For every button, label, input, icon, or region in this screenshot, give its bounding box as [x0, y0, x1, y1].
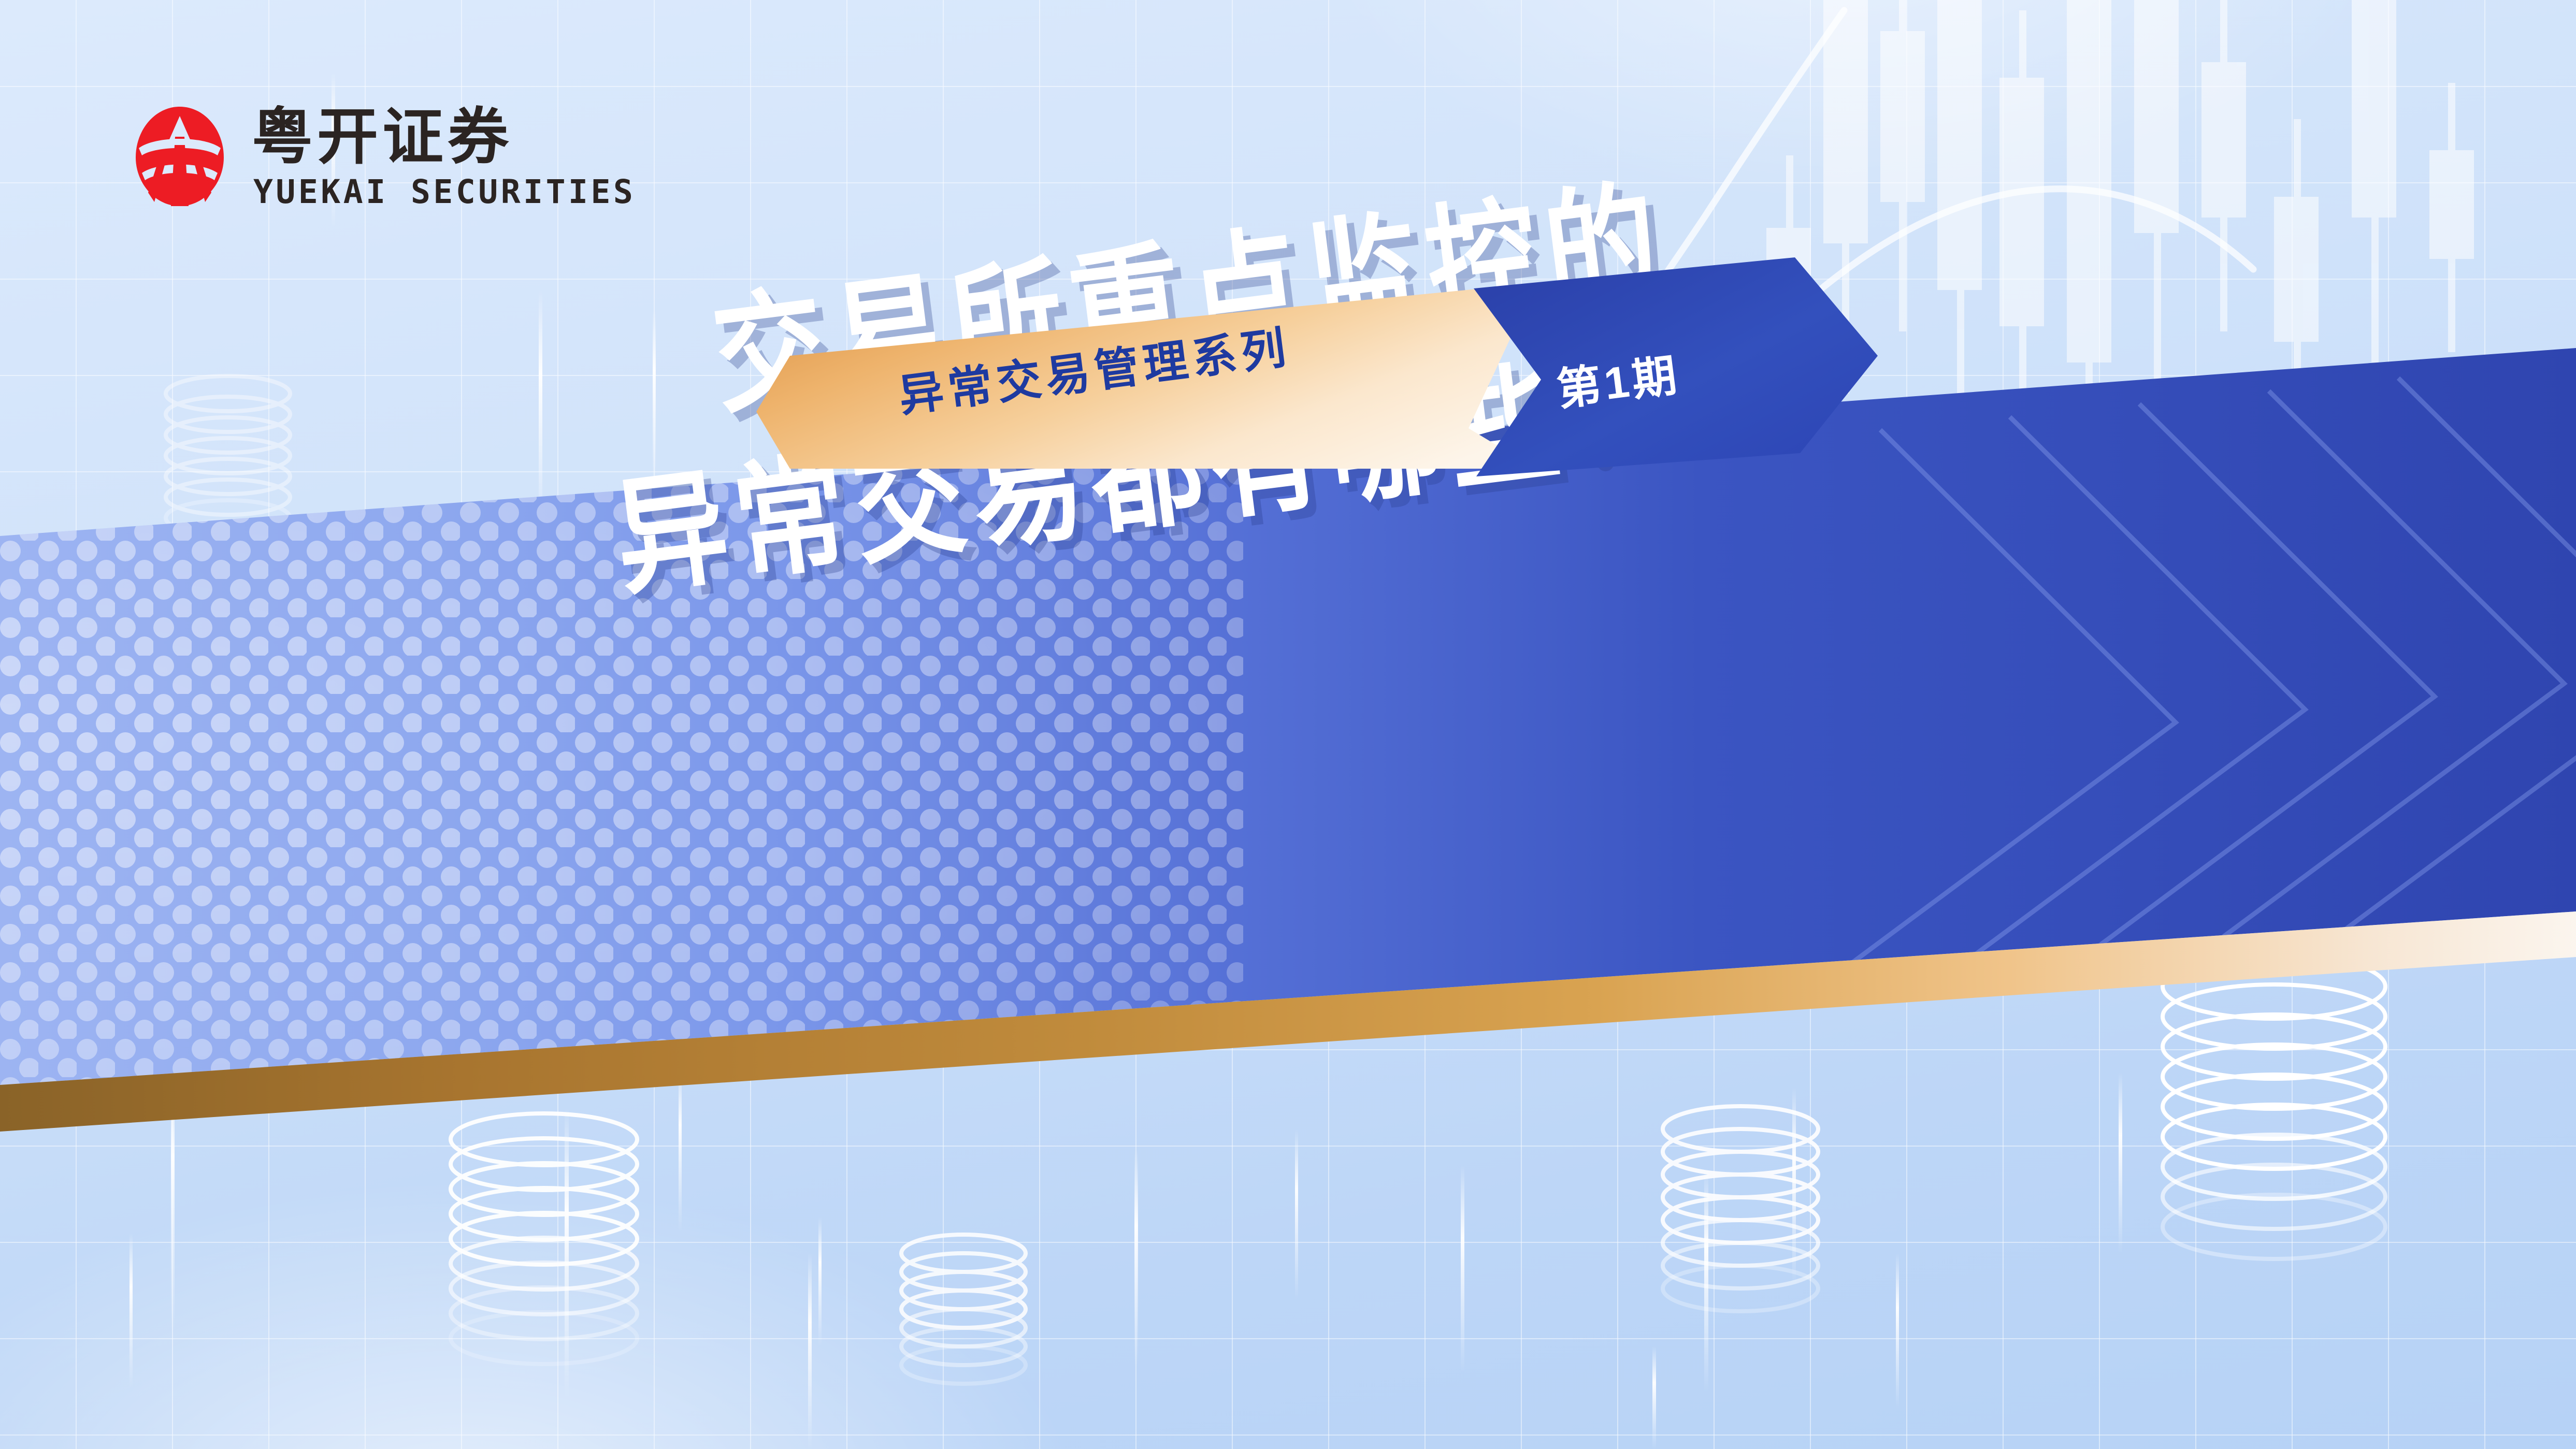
- yuekai-pagoda-logo-icon: [131, 105, 229, 208]
- brand-name-cn: 粤开证券: [252, 105, 635, 171]
- series-badge: 异常交易管理系列 第1期: [728, 298, 1878, 489]
- svg-text:粤开证券: 粤开证券: [252, 105, 513, 171]
- brand-name-en: YUEKAI SECURITIES: [253, 176, 636, 208]
- brand-logo[interactable]: 粤开证券 YUEKAI SECURITIES: [131, 99, 742, 213]
- poster-canvas: 交易所重点监控的 异常交易都有哪些？: [0, 0, 2576, 1449]
